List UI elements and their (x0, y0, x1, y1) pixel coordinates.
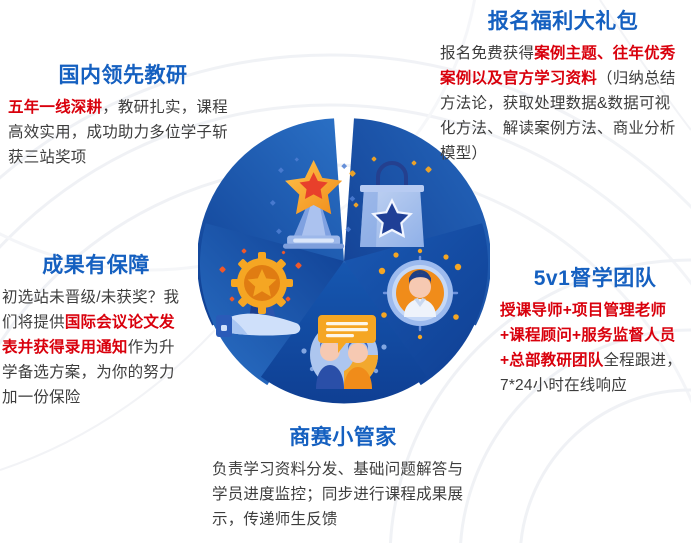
feature-block-chengguo: 成果有保障 初选站未晋级/未获奖？我们将提供国际会议论文发表并获得录用通知作为升… (2, 252, 190, 410)
feature-body-guanjia: 负责学习资料分发、基础问题解答与学员进度监控；同步进行课程成果展示，传递师生反馈 (212, 457, 474, 532)
plain-text: 报名免费获得 (440, 45, 534, 62)
feature-title-guanjia: 商赛小管家 (212, 424, 474, 452)
highlight-text: 五年一线深耕 (8, 99, 102, 116)
feature-title-libao: 报名福利大礼包 (440, 8, 686, 36)
feature-block-guanjia: 商赛小管家 负责学习资料分发、基础问题解答与学员进度监控；同步进行课程成果展示，… (212, 424, 474, 532)
feature-body-libao: 报名免费获得案例主题、往年优秀案例以及官方学习资料（归纳总结方法论，获取处理数据… (440, 41, 686, 166)
feature-title-jiaoyan: 国内领先教研 (8, 62, 238, 90)
feature-block-jiaoyan: 国内领先教研 五年一线深耕，教研扎实，课程高效实用，成功助力多位学子斩获三站奖项 (8, 62, 238, 170)
feature-block-duxue: 5v1督学团队 授课导师+项目管理老师+课程顾问+服务监督人员+总部教研团队全程… (500, 265, 690, 398)
feature-body-jiaoyan: 五年一线深耕，教研扎实，课程高效实用，成功助力多位学子斩获三站奖项 (8, 95, 238, 170)
feature-title-chengguo: 成果有保障 (2, 252, 190, 280)
feature-body-chengguo: 初选站未晋级/未获奖？我们将提供国际会议论文发表并获得录用通知作为升学备选方案，… (2, 285, 190, 410)
feature-title-duxue: 5v1督学团队 (500, 265, 690, 293)
feature-block-libao: 报名福利大礼包 报名免费获得案例主题、往年优秀案例以及官方学习资料（归纳总结方法… (440, 8, 686, 166)
plain-text: 负责学习资料分发、基础问题解答与学员进度监控；同步进行课程成果展示，传递师生反馈 (212, 461, 463, 528)
feature-body-duxue: 授课导师+项目管理老师+课程顾问+服务监督人员+总部教研团队全程跟进，7*24小… (500, 298, 690, 398)
infographic-page: 国内领先教研 五年一线深耕，教研扎实，课程高效实用，成功助力多位学子斩获三站奖项… (0, 0, 691, 543)
